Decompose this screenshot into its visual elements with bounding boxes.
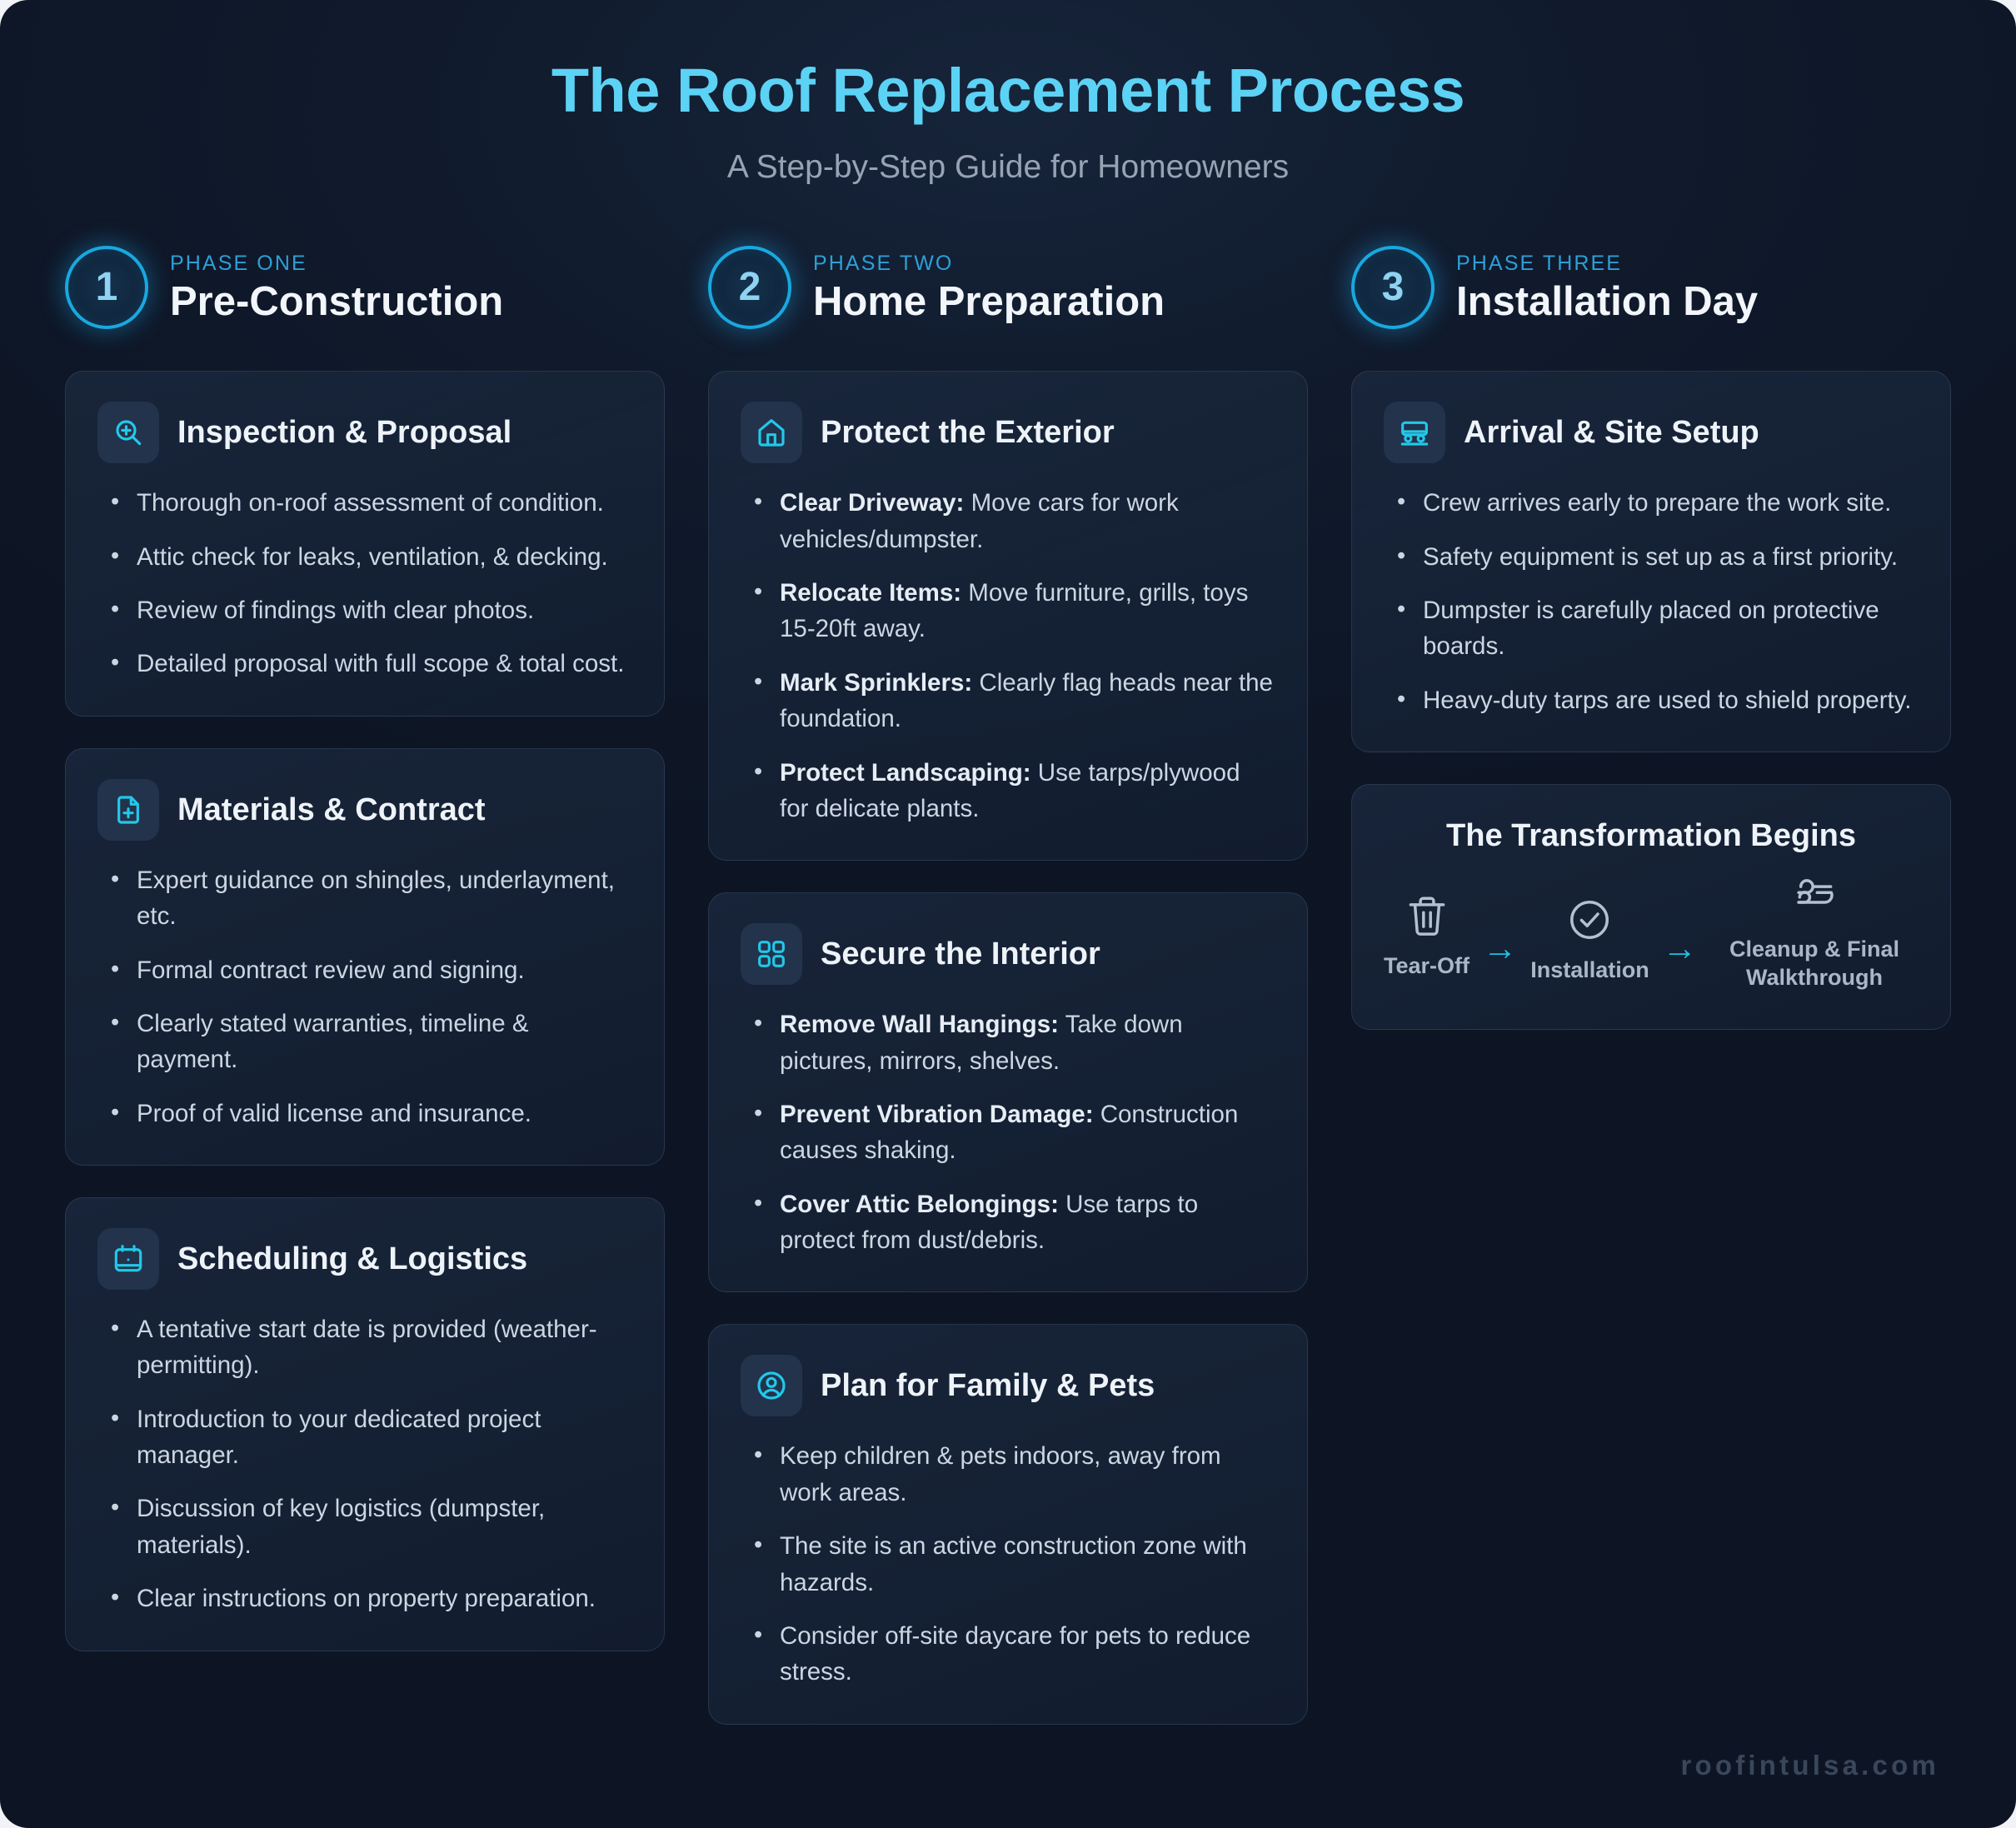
bullet-text: Formal contract review and signing. xyxy=(137,956,525,984)
trash-icon xyxy=(1404,892,1450,939)
transformation-flow: Tear-Off→Installation→Cleanup & Final Wa… xyxy=(1384,889,1919,992)
bullet-text: Thorough on-roof assessment of condition… xyxy=(137,489,604,517)
phase-header-3: 3PHASE THREEInstallation Day xyxy=(1351,237,1951,337)
bullet-item: Protect Landscaping: Use tarps/plywood f… xyxy=(741,755,1275,827)
phase-name: Installation Day xyxy=(1456,281,1758,323)
phase-header-2: 2PHASE TWOHome Preparation xyxy=(708,237,1308,337)
bullet-text: Proof of valid license and insurance. xyxy=(137,1100,531,1127)
user-circle-icon xyxy=(741,1355,802,1416)
flow-step-label: Installation xyxy=(1530,956,1649,985)
bullet-text: Expert guidance on shingles, underlaymen… xyxy=(137,867,615,930)
bullet-item: Introduction to your dedicated project m… xyxy=(97,1401,632,1474)
bullet-item: Remove Wall Hangings: Take down pictures… xyxy=(741,1006,1275,1079)
phase-number: 2 xyxy=(739,267,761,307)
bullet-lead: Remove Wall Hangings: xyxy=(780,1011,1059,1038)
phase-columns: 1PHASE ONEPre-ConstructionInspection & P… xyxy=(0,237,2016,1756)
phase-number-badge: 1 xyxy=(65,246,148,329)
infographic-page: The Roof Replacement Process A Step-by-S… xyxy=(0,0,2016,1828)
card-title: Secure the Interior xyxy=(821,936,1100,972)
card-title: Inspection & Proposal xyxy=(177,415,511,451)
bullet-item: Expert guidance on shingles, underlaymen… xyxy=(97,862,632,935)
info-card: Protect the ExteriorClear Driveway: Move… xyxy=(708,371,1308,861)
phase-number-badge: 2 xyxy=(708,246,791,329)
phase-number-badge: 3 xyxy=(1351,246,1435,329)
phase-meta: PHASE THREEInstallation Day xyxy=(1456,252,1758,323)
bullet-item: Dumpster is carefully placed on protecti… xyxy=(1384,592,1919,665)
phase-column-3: 3PHASE THREEInstallation DayArrival & Si… xyxy=(1351,237,1951,1029)
phase-number: 1 xyxy=(96,267,118,307)
info-card: Secure the InteriorRemove Wall Hangings:… xyxy=(708,892,1308,1292)
flow-arrow-icon: → xyxy=(1483,931,1518,966)
phase-name: Home Preparation xyxy=(813,281,1165,323)
flow-arrow-icon: → xyxy=(1662,931,1697,966)
info-card: Materials & ContractExpert guidance on s… xyxy=(65,748,665,1166)
bullet-item: Cover Attic Belongings: Use tarps to pro… xyxy=(741,1186,1275,1259)
phase-name: Pre-Construction xyxy=(170,281,503,323)
flow-step: Cleanup & Final Walkthrough xyxy=(1710,876,1919,992)
phase-eyebrow: PHASE TWO xyxy=(813,252,1165,276)
check-circle-icon xyxy=(1566,897,1613,943)
card-header: Arrival & Site Setup xyxy=(1384,402,1919,463)
card-header: Inspection & Proposal xyxy=(97,402,632,463)
grid-icon xyxy=(741,923,802,985)
card-header: Protect the Exterior xyxy=(741,402,1275,463)
card-header: Plan for Family & Pets xyxy=(741,1355,1275,1416)
card-bullet-list: Thorough on-roof assessment of condition… xyxy=(97,485,632,682)
card-header: Materials & Contract xyxy=(97,779,632,841)
card-title: Plan for Family & Pets xyxy=(821,1368,1155,1404)
bullet-text: Crew arrives early to prepare the work s… xyxy=(1423,489,1891,517)
flow-step-label: Cleanup & Final Walkthrough xyxy=(1710,936,1919,992)
card-bullet-list: Clear Driveway: Move cars for work vehic… xyxy=(741,485,1275,827)
home-icon xyxy=(741,402,802,463)
bullet-text: Review of findings with clear photos. xyxy=(137,597,534,624)
card-title: Materials & Contract xyxy=(177,792,486,828)
card-title: Protect the Exterior xyxy=(821,415,1115,451)
phase-header-1: 1PHASE ONEPre-Construction xyxy=(65,237,665,337)
bullet-item: Formal contract review and signing. xyxy=(97,952,632,988)
bullet-lead: Cover Attic Belongings: xyxy=(780,1191,1059,1218)
bullet-item: Clear Driveway: Move cars for work vehic… xyxy=(741,485,1275,557)
card-bullet-list: Keep children & pets indoors, away from … xyxy=(741,1438,1275,1690)
bullet-item: Clearly stated warranties, timeline & pa… xyxy=(97,1006,632,1078)
bullet-text: Clearly stated warranties, timeline & pa… xyxy=(137,1010,529,1073)
phase-column-2: 2PHASE TWOHome PreparationProtect the Ex… xyxy=(708,237,1308,1756)
flow-step: Installation xyxy=(1530,897,1649,985)
bullet-text: Attic check for leaks, ventilation, & de… xyxy=(137,543,608,571)
bullet-text: Introduction to your dedicated project m… xyxy=(137,1406,541,1469)
phase-eyebrow: PHASE ONE xyxy=(170,252,503,276)
transformation-title: The Transformation Begins xyxy=(1384,818,1919,854)
card-bullet-list: Crew arrives early to prepare the work s… xyxy=(1384,485,1919,718)
bullet-text: Dumpster is carefully placed on protecti… xyxy=(1423,597,1879,660)
transformation-panel: The Transformation BeginsTear-Off→Instal… xyxy=(1351,784,1951,1030)
bullet-lead: Prevent Vibration Damage: xyxy=(780,1101,1094,1128)
bullet-text: The site is an active construction zone … xyxy=(780,1532,1247,1596)
card-title: Arrival & Site Setup xyxy=(1464,415,1759,451)
phase-eyebrow: PHASE THREE xyxy=(1456,252,1758,276)
bullet-lead: Relocate Items: xyxy=(780,579,961,607)
bullet-lead: Protect Landscaping: xyxy=(780,759,1031,787)
card-header: Scheduling & Logistics xyxy=(97,1228,632,1290)
bullet-text: Keep children & pets indoors, away from … xyxy=(780,1442,1221,1506)
bullet-text: Discussion of key logistics (dumpster, m… xyxy=(137,1495,545,1558)
truck-icon xyxy=(1384,402,1445,463)
phase-meta: PHASE ONEPre-Construction xyxy=(170,252,503,323)
bullet-item: Proof of valid license and insurance. xyxy=(97,1096,632,1131)
bullet-text: Detailed proposal with full scope & tota… xyxy=(137,650,624,677)
file-plus-icon xyxy=(97,779,159,841)
info-card: Scheduling & LogisticsA tentative start … xyxy=(65,1197,665,1651)
bullet-item: Crew arrives early to prepare the work s… xyxy=(1384,485,1919,521)
bullet-item: Mark Sprinklers: Clearly flag heads near… xyxy=(741,665,1275,737)
bullet-item: Attic check for leaks, ventilation, & de… xyxy=(97,539,632,575)
bullet-item: Keep children & pets indoors, away from … xyxy=(741,1438,1275,1511)
card-header: Secure the Interior xyxy=(741,923,1275,985)
bullet-lead: Mark Sprinklers: xyxy=(780,669,972,697)
card-title: Scheduling & Logistics xyxy=(177,1241,527,1277)
info-card: Arrival & Site SetupCrew arrives early t… xyxy=(1351,371,1951,752)
page-subtitle: A Step-by-Step Guide for Homeowners xyxy=(0,149,2016,186)
phase-number: 3 xyxy=(1382,267,1405,307)
zoom-in-icon xyxy=(97,402,159,463)
broom-icon xyxy=(1791,876,1838,922)
bullet-item: The site is an active construction zone … xyxy=(741,1528,1275,1601)
page-title: The Roof Replacement Process xyxy=(0,57,2016,124)
info-card: Plan for Family & PetsKeep children & pe… xyxy=(708,1324,1308,1724)
bullet-item: Relocate Items: Move furniture, grills, … xyxy=(741,575,1275,647)
card-bullet-list: Remove Wall Hangings: Take down pictures… xyxy=(741,1006,1275,1258)
phase-meta: PHASE TWOHome Preparation xyxy=(813,252,1165,323)
bullet-text: Clear instructions on property preparati… xyxy=(137,1585,596,1612)
card-bullet-list: Expert guidance on shingles, underlaymen… xyxy=(97,862,632,1131)
bullet-text: Consider off-site daycare for pets to re… xyxy=(780,1622,1250,1686)
info-card: Inspection & ProposalThorough on-roof as… xyxy=(65,371,665,716)
bullet-text: Safety equipment is set up as a first pr… xyxy=(1423,543,1898,571)
bullet-item: Review of findings with clear photos. xyxy=(97,592,632,628)
bullet-item: Clear instructions on property preparati… xyxy=(97,1581,632,1616)
calendar-icon xyxy=(97,1228,159,1290)
card-bullet-list: A tentative start date is provided (weat… xyxy=(97,1311,632,1617)
phase-column-1: 1PHASE ONEPre-ConstructionInspection & P… xyxy=(65,237,665,1682)
bullet-text: A tentative start date is provided (weat… xyxy=(137,1316,597,1379)
bullet-item: Safety equipment is set up as a first pr… xyxy=(1384,539,1919,575)
flow-step: Tear-Off xyxy=(1384,892,1470,981)
bullet-item: Prevent Vibration Damage: Construction c… xyxy=(741,1096,1275,1169)
flow-step-label: Tear-Off xyxy=(1384,952,1470,981)
bullet-item: A tentative start date is provided (weat… xyxy=(97,1311,632,1384)
bullet-item: Heavy-duty tarps are used to shield prop… xyxy=(1384,682,1919,718)
bullet-item: Discussion of key logistics (dumpster, m… xyxy=(97,1491,632,1563)
page-header: The Roof Replacement Process A Step-by-S… xyxy=(0,0,2016,186)
bullet-text: Heavy-duty tarps are used to shield prop… xyxy=(1423,687,1911,714)
bullet-item: Consider off-site daycare for pets to re… xyxy=(741,1618,1275,1691)
watermark: roofintulsa.com xyxy=(1680,1750,1939,1781)
bullet-lead: Clear Driveway: xyxy=(780,489,964,517)
bullet-item: Thorough on-roof assessment of condition… xyxy=(97,485,632,521)
bullet-item: Detailed proposal with full scope & tota… xyxy=(97,646,632,682)
